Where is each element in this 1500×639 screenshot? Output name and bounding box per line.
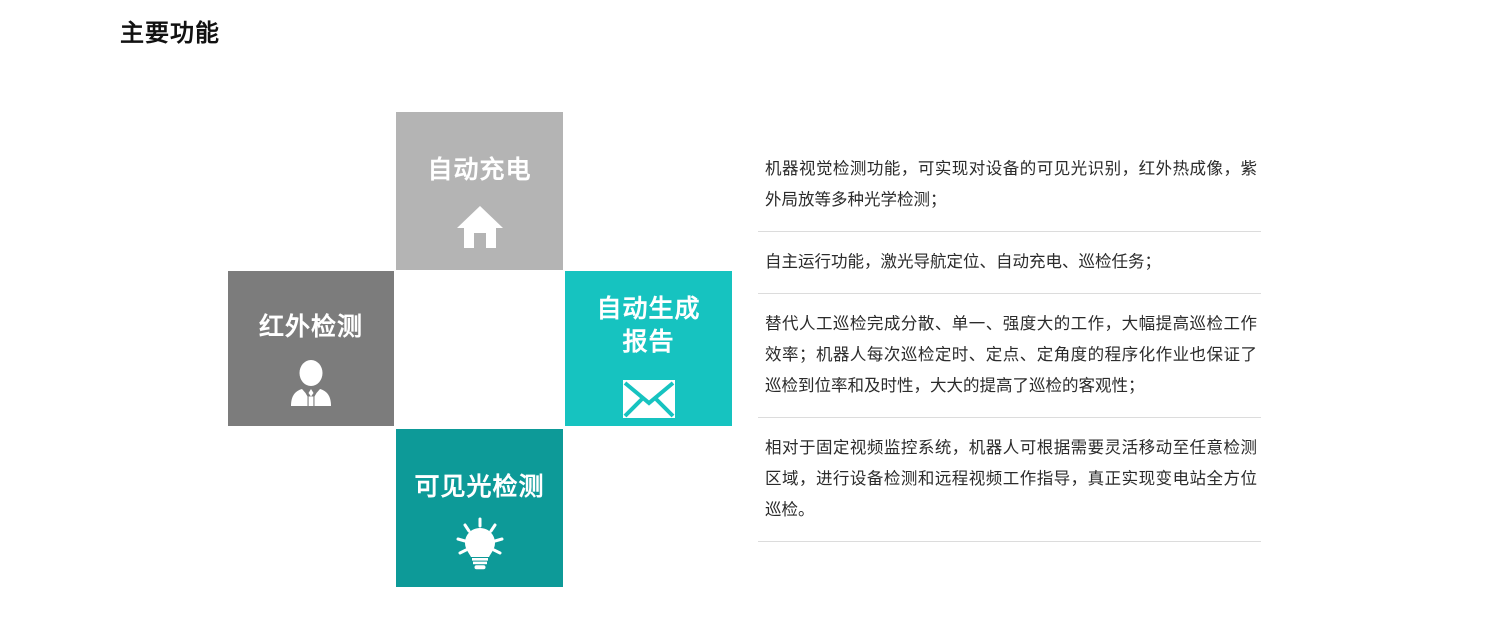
tile-infrared-detection[interactable]: 红外检测 bbox=[228, 271, 394, 426]
feature-tile-grid: 自动充电 红外检测 自动生成 报告 bbox=[228, 112, 568, 587]
lightbulb-icon bbox=[452, 516, 508, 572]
tile-infrared-detection-label: 红外检测 bbox=[259, 311, 363, 344]
page-title: 主要功能 bbox=[120, 17, 220, 51]
feature-block: 替代人工巡检完成分散、单一、强度大的工作，大幅提高巡检工作效率；机器人每次巡检定… bbox=[758, 294, 1261, 418]
feature-block: 机器视觉检测功能，可实现对设备的可见光识别，红外热成像，紫外局放等多种光学检测； bbox=[758, 145, 1261, 232]
feature-text: 自主运行功能，激光导航定位、自动充电、巡检任务； bbox=[758, 246, 1261, 277]
envelope-icon bbox=[621, 371, 677, 426]
tile-auto-charging-label: 自动充电 bbox=[427, 154, 531, 187]
feature-block: 相对于固定视频监控系统，机器人可根据需要灵活移动至任意检测区域，进行设备检测和远… bbox=[758, 418, 1261, 542]
tile-visible-light-detection[interactable]: 可见光检测 bbox=[396, 429, 563, 587]
tile-auto-charging[interactable]: 自动充电 bbox=[396, 112, 563, 270]
home-icon bbox=[452, 199, 508, 255]
feature-text: 相对于固定视频监控系统，机器人可根据需要灵活移动至任意检测区域，进行设备检测和远… bbox=[758, 432, 1261, 525]
feature-block: 自主运行功能，激光导航定位、自动充电、巡检任务； bbox=[758, 232, 1261, 294]
feature-text-panel: 机器视觉检测功能，可实现对设备的可见光识别，红外热成像，紫外局放等多种光学检测；… bbox=[758, 145, 1261, 542]
feature-text: 替代人工巡检完成分散、单一、强度大的工作，大幅提高巡检工作效率；机器人每次巡检定… bbox=[758, 308, 1261, 401]
feature-text: 机器视觉检测功能，可实现对设备的可见光识别，红外热成像，紫外局放等多种光学检测； bbox=[758, 153, 1261, 215]
person-icon bbox=[283, 356, 339, 412]
tile-visible-light-detection-label: 可见光检测 bbox=[414, 471, 544, 504]
tile-auto-report[interactable]: 自动生成 报告 bbox=[565, 271, 732, 426]
tile-auto-report-label: 自动生成 报告 bbox=[596, 293, 700, 359]
